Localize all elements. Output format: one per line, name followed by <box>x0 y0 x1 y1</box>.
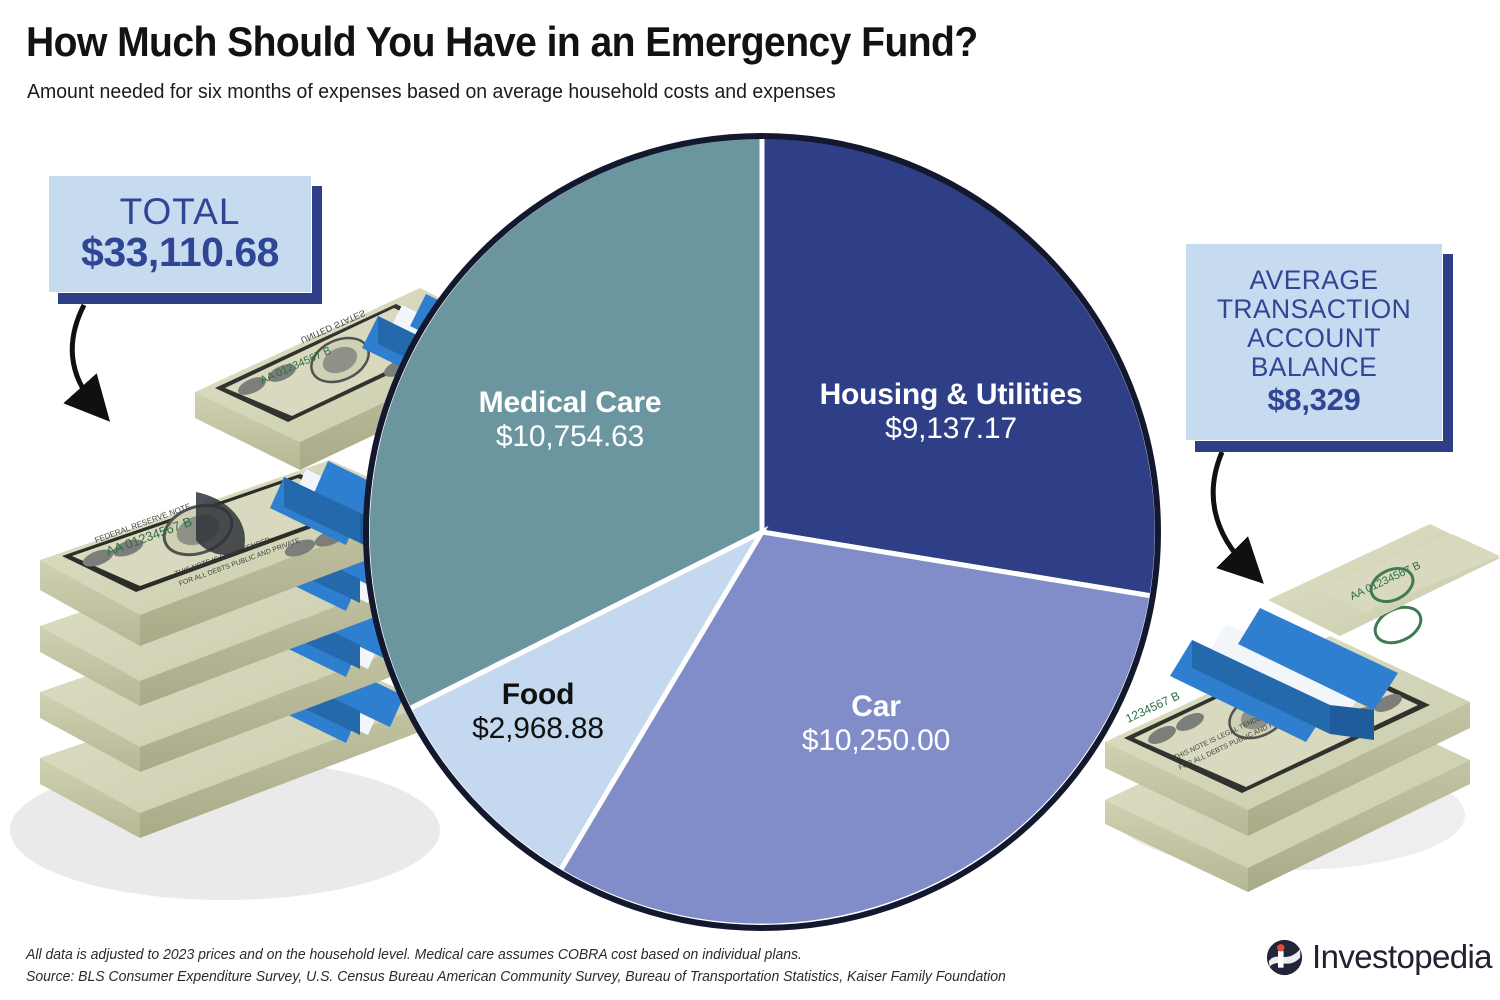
callout-average-face: AVERAGE TRANSACTION ACCOUNT BALANCE $8,3… <box>1185 243 1443 441</box>
arrow-right-icon <box>1213 452 1248 568</box>
footer-note: All data is adjusted to 2023 prices and … <box>26 947 802 963</box>
callout-average-line2: TRANSACTION <box>1217 295 1411 324</box>
callout-total-face: TOTAL $33,110.68 <box>48 175 312 293</box>
page-subtitle: Amount needed for six months of expenses… <box>27 80 836 104</box>
callout-arrows <box>0 0 1500 1000</box>
callout-average-line3: ACCOUNT <box>1247 324 1381 353</box>
callout-total-label: TOTAL <box>120 193 241 230</box>
callout-total-value: $33,110.68 <box>81 230 279 274</box>
callout-average-line1: AVERAGE <box>1250 266 1379 295</box>
callout-average-line4: BALANCE <box>1251 353 1378 382</box>
callout-total: TOTAL $33,110.68 <box>48 175 312 293</box>
callout-average-value: $8,329 <box>1267 382 1360 418</box>
page-title: How Much Should You Have in an Emergency… <box>26 18 978 66</box>
investopedia-wordmark: Investopedia <box>1312 938 1492 976</box>
footer-source: Source: BLS Consumer Expenditure Survey,… <box>26 969 1006 985</box>
investopedia-logo[interactable]: Investopedia <box>1266 938 1492 976</box>
arrow-left-icon <box>72 305 95 405</box>
infographic-canvas: AA 01234567 B FEDERAL RESERVE NOTE THIS … <box>0 0 1500 1000</box>
callout-average-transaction-balance: AVERAGE TRANSACTION ACCOUNT BALANCE $8,3… <box>1185 243 1443 441</box>
investopedia-logo-icon <box>1266 939 1303 976</box>
